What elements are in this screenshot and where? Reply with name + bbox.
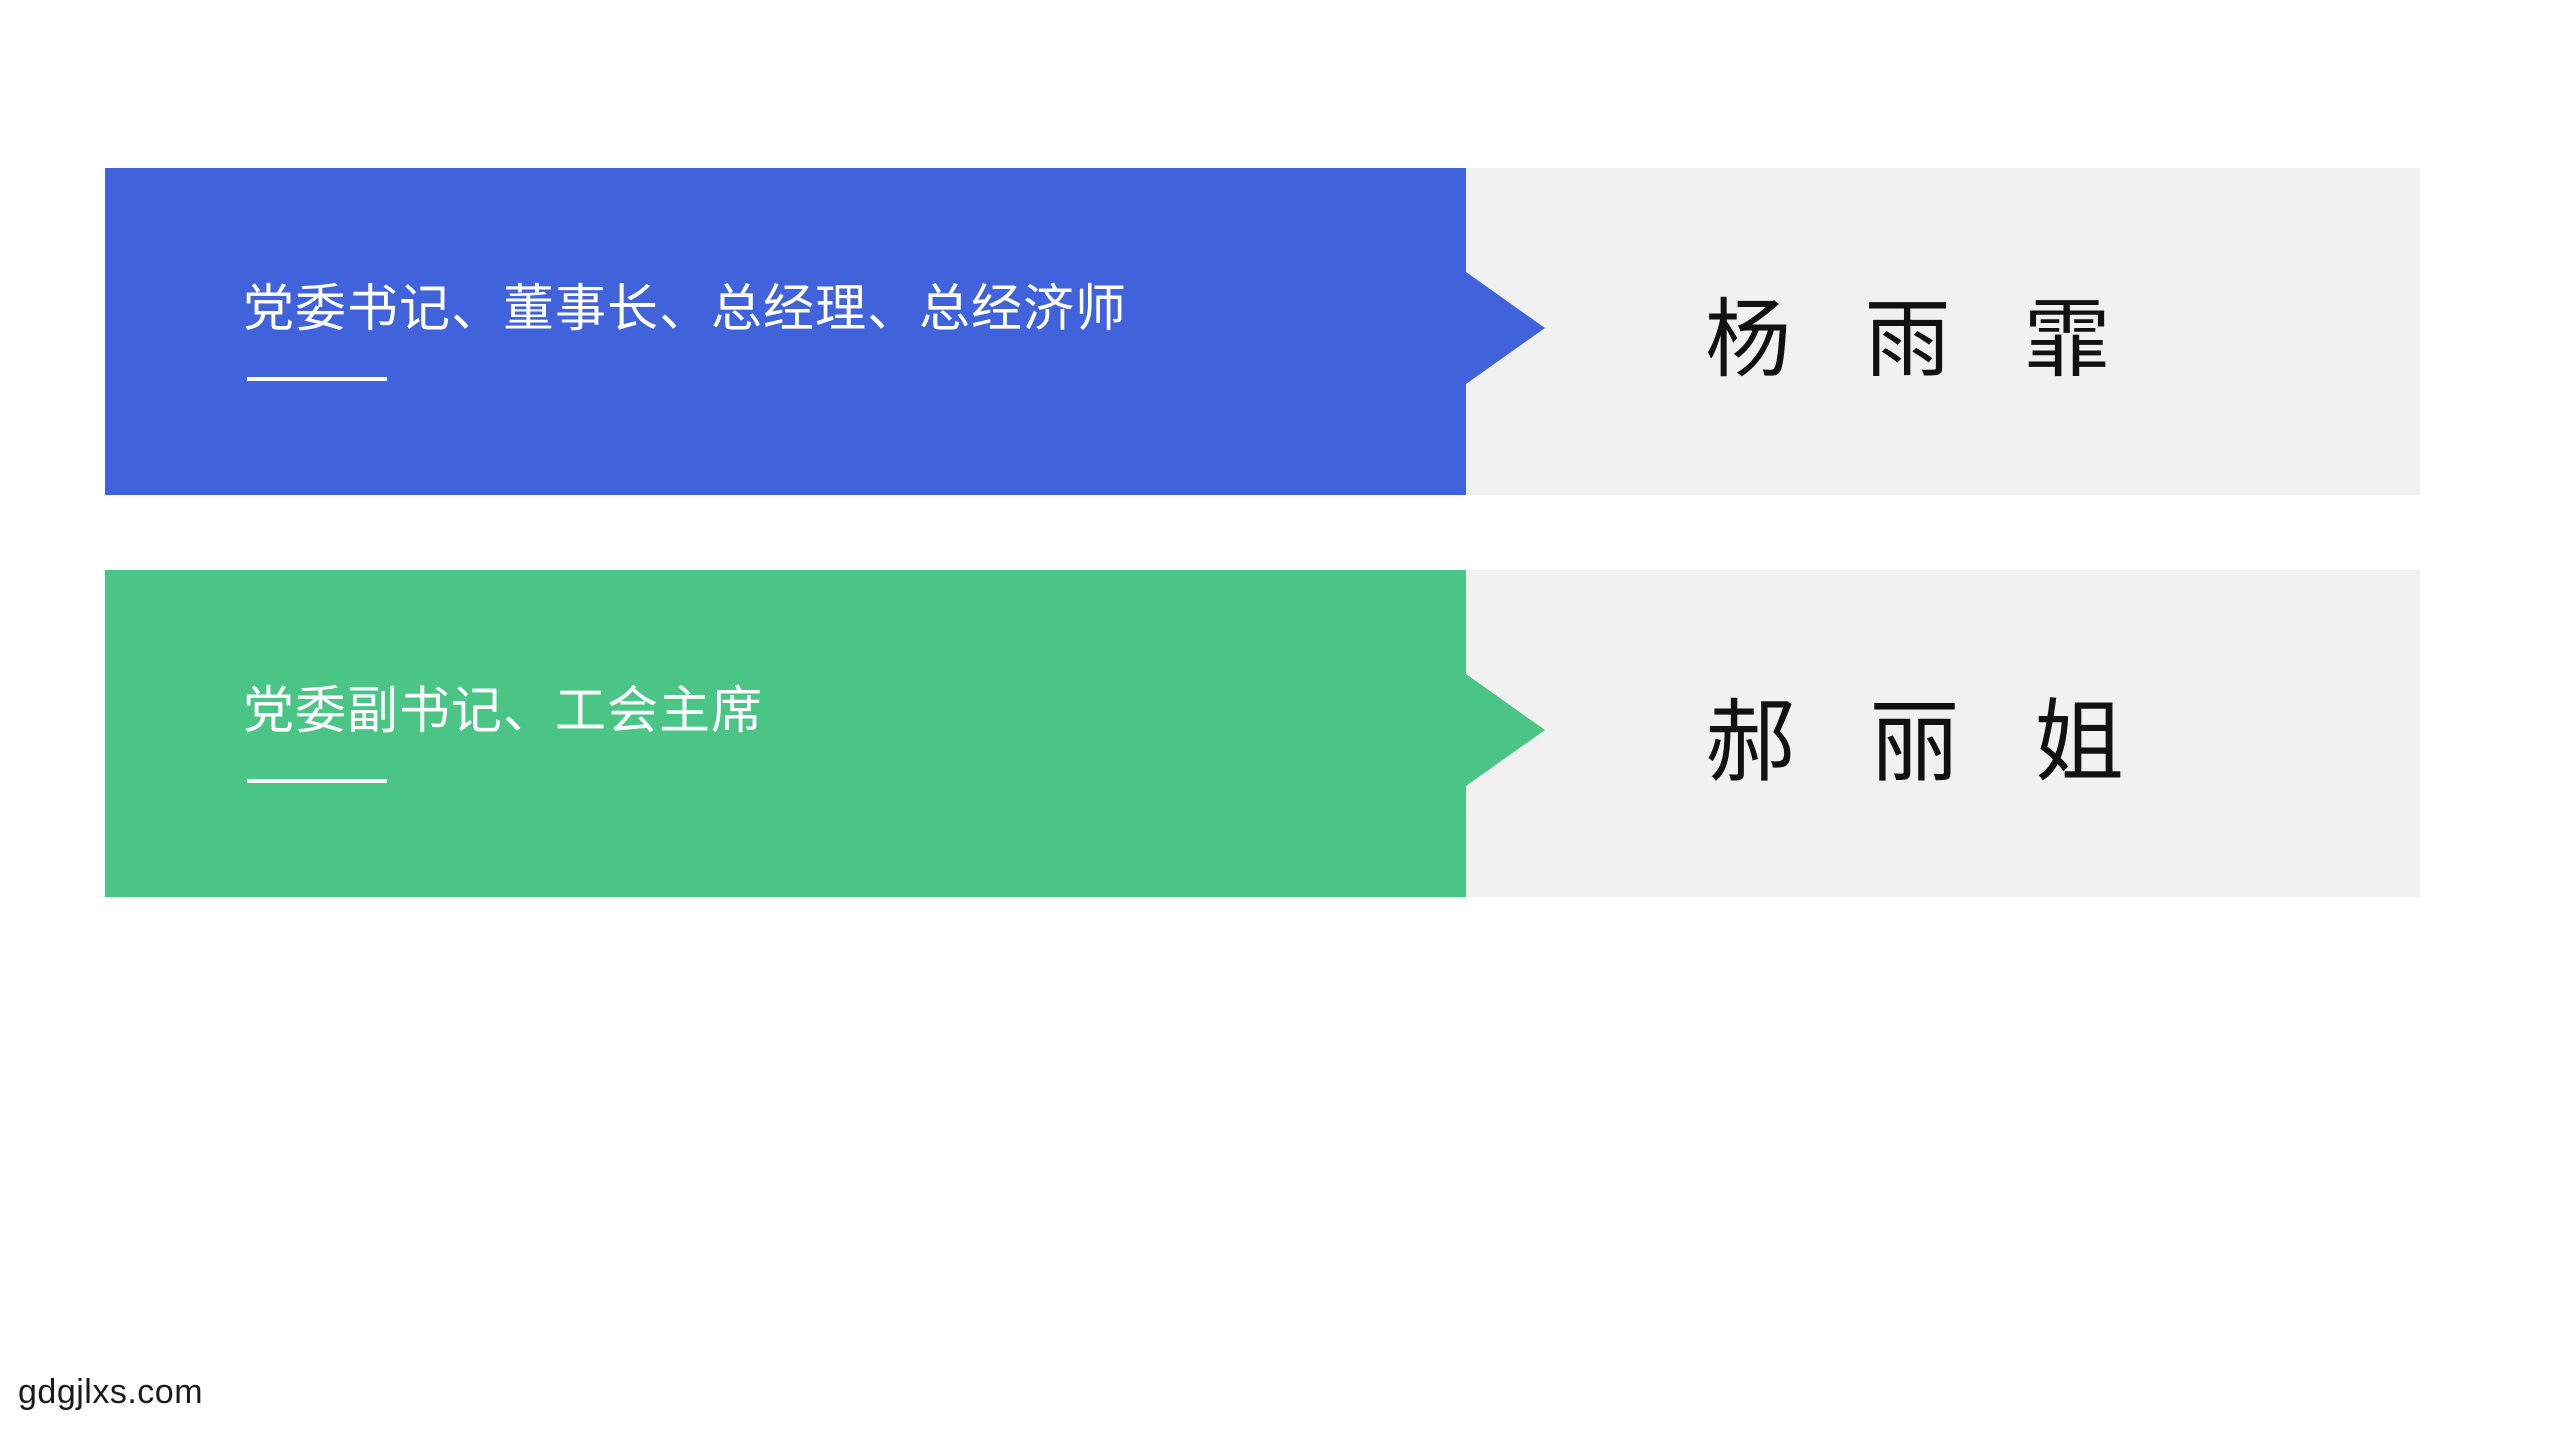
person-name: 郝 丽 姐 xyxy=(1705,570,2150,897)
person-name: 杨 雨 霏 xyxy=(1705,168,2136,495)
role-title: 党委书记、董事长、总经理、总经济师 xyxy=(243,282,1127,338)
role-underline-rule xyxy=(247,377,387,381)
roster-row: 党委副书记、工会主席 郝 丽 姐 xyxy=(105,570,2420,897)
role-banner: 党委副书记、工会主席 xyxy=(105,570,1545,897)
role-title: 党委副书记、工会主席 xyxy=(243,684,763,740)
role-banner-content: 党委副书记、工会主席 xyxy=(243,570,1423,897)
site-watermark: gdgjlxs.com xyxy=(18,1373,203,1412)
role-banner: 党委书记、董事长、总经理、总经济师 xyxy=(105,168,1545,495)
roster-stage: 党委书记、董事长、总经理、总经济师 杨 雨 霏 党委副书记、工会主席 郝 丽 姐… xyxy=(0,0,2560,1440)
role-underline-rule xyxy=(247,779,387,783)
roster-row: 党委书记、董事长、总经理、总经济师 杨 雨 霏 xyxy=(105,168,2420,495)
role-banner-content: 党委书记、董事长、总经理、总经济师 xyxy=(243,168,1423,495)
